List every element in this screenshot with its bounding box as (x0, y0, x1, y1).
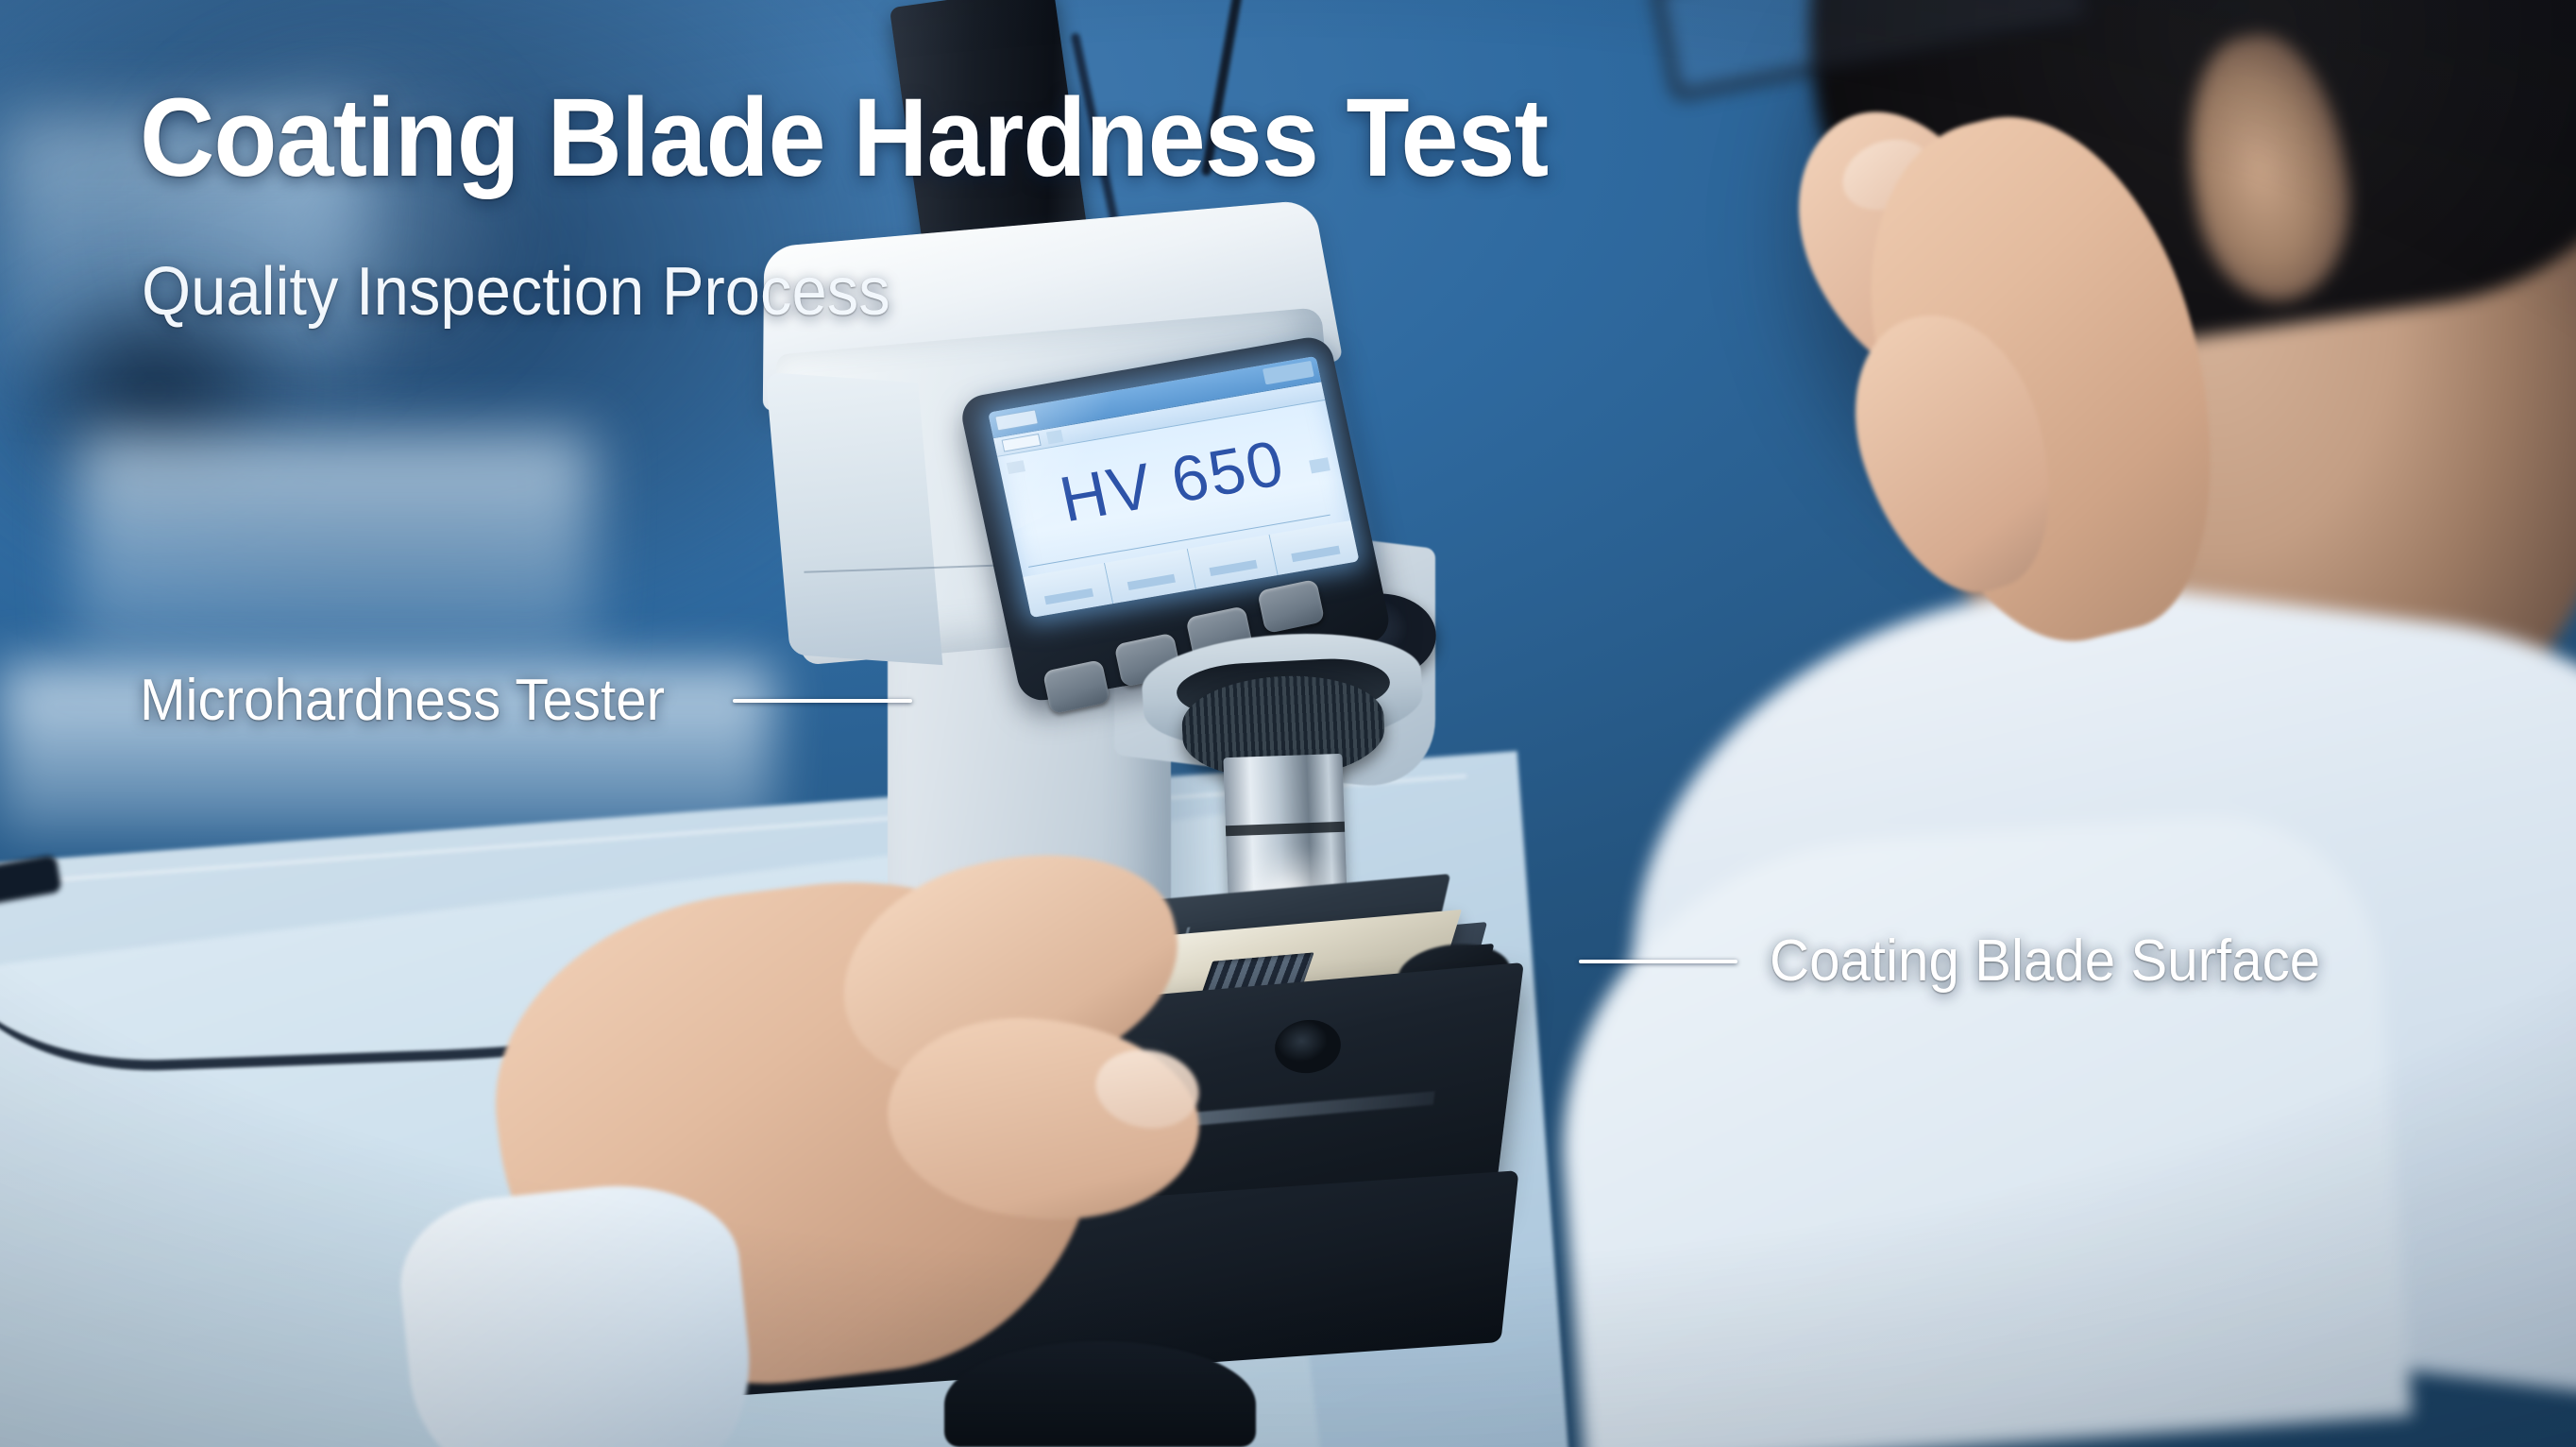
head-side-panel (766, 372, 943, 665)
page-title: Coating Blade Hardness Test (140, 74, 1548, 202)
page-subtitle: Quality Inspection Process (142, 253, 890, 331)
leader-line-icon (733, 699, 912, 703)
annotation-label: Microhardness Tester (140, 667, 665, 734)
annotation-microhardness-tester: Microhardness Tester (140, 667, 912, 734)
lab-coat-cuff (392, 1173, 759, 1447)
annotation-label: Coating Blade Surface (1770, 928, 2320, 995)
leader-line-icon (1579, 960, 1737, 963)
left-hand (444, 831, 1294, 1447)
annotation-coating-blade-surface: Coating Blade Surface (1579, 928, 2355, 995)
hero-image-canvas: HV 650 (0, 0, 2576, 1447)
display-toolbar-icon (1046, 430, 1063, 444)
right-hand (1775, 0, 2266, 718)
background-lab-equipment-a (77, 434, 593, 666)
